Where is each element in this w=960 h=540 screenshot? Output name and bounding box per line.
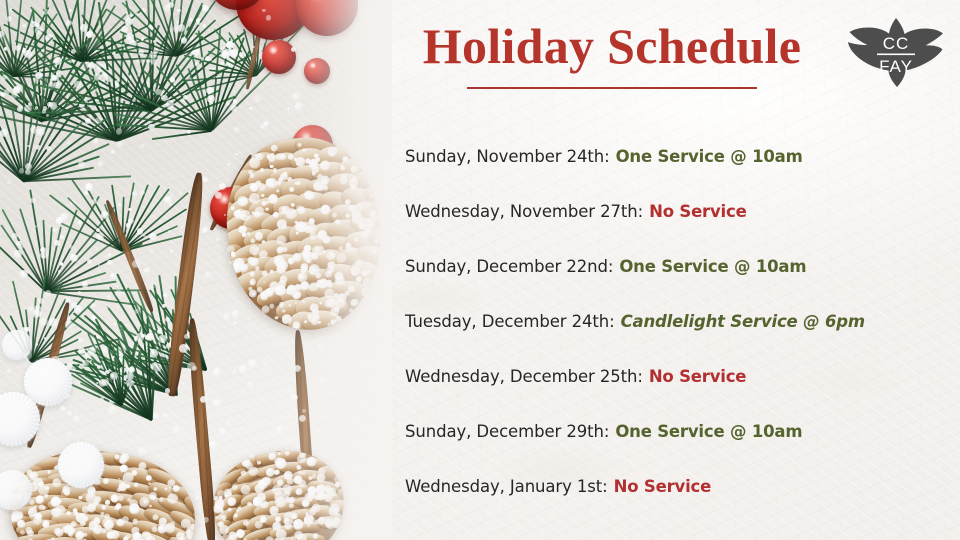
snow-fleck (140, 190, 145, 195)
snow-crumb (292, 92, 300, 100)
snow-crumb (249, 107, 252, 110)
snow-crumb (213, 399, 221, 407)
snow-crumb (227, 163, 230, 166)
pine-needle-cluster (115, 140, 116, 141)
pinecone-snow (57, 499, 62, 504)
snow-fleck (98, 161, 103, 166)
pine-needle-cluster-lower (150, 420, 151, 421)
snow-crumb (248, 359, 257, 368)
logo-line-bottom: FAY (879, 57, 913, 76)
snow-fleck (94, 139, 99, 144)
snow-fleck (207, 95, 215, 103)
snow-crumb (100, 397, 104, 401)
snow-crumb (85, 62, 87, 64)
snow-crumb (309, 508, 317, 516)
snow-crumb (150, 283, 156, 289)
pinecone-snow (304, 320, 307, 323)
pine-needle-cluster (255, 75, 256, 76)
snow-crumb (301, 471, 305, 475)
holiday-schedule-slide: CC FAY Holiday Schedule Sunday, November… (0, 0, 960, 540)
snow-crumb (87, 467, 90, 470)
pinecone-snow (249, 245, 260, 256)
snow-crumb (204, 271, 211, 278)
schedule-row: Tuesday, December 24th:Candlelight Servi… (405, 294, 945, 349)
snow-fleck (110, 273, 116, 279)
pinecone-snow (145, 474, 152, 481)
snow-crumb (20, 270, 28, 278)
snow-fleck (239, 52, 245, 58)
snow-crumb (140, 144, 144, 148)
snow-crumb (329, 391, 337, 399)
snow-fleck (14, 250, 22, 258)
snow-crumb (134, 309, 139, 314)
pinecone-snow (261, 193, 265, 197)
snow-fleck (158, 335, 166, 343)
pinecone-snow (261, 270, 268, 277)
snow-crumb (19, 244, 24, 249)
snow-crumb (291, 536, 297, 540)
snow-crumb (132, 260, 140, 268)
pinecone-snow (250, 271, 255, 276)
pinecone-snow (114, 454, 119, 459)
snow-crumb (68, 531, 73, 536)
pinecone-snow (34, 512, 42, 520)
pinecone-snow (350, 299, 358, 307)
snow-fleck (0, 129, 8, 137)
snow-crumb (52, 227, 58, 233)
snow-crumb (187, 362, 196, 371)
schedule-detail: One Service @ 10am (616, 147, 803, 166)
snow-crumb (125, 324, 127, 326)
snow-fleck (195, 62, 200, 67)
schedule-date: Wednesday, November 27th: (405, 202, 643, 221)
schedule-date: Sunday, December 22nd: (405, 257, 613, 276)
snow-crumb (65, 320, 73, 328)
pinecone-snow (361, 286, 373, 298)
snow-crumb (67, 141, 71, 145)
snow-fleck (78, 291, 81, 294)
pinecone-snow (237, 195, 248, 206)
snow-crumb (171, 521, 175, 525)
snow-crumb (181, 37, 187, 43)
snow-crumb (263, 121, 269, 127)
pinecone-snow (317, 468, 326, 477)
snow-crumb (25, 169, 31, 175)
snow-fleck (106, 77, 111, 82)
pinecone-snow (44, 493, 49, 498)
snow-crumb (19, 168, 25, 174)
pinecone-snow (144, 500, 148, 504)
pinecone-snow (349, 308, 353, 312)
snow-fleck (17, 106, 23, 112)
pinecone-snow (219, 508, 223, 512)
red-berry-top-b (304, 58, 330, 84)
snow-fleck (99, 379, 107, 387)
pinecone-snow (255, 266, 260, 271)
snow-crumb (247, 427, 251, 431)
snow-crumb (280, 154, 286, 160)
schedule-date: Sunday, November 24th: (405, 147, 610, 166)
snow-crumb (116, 128, 123, 135)
snow-crumb (73, 415, 80, 422)
pinecone-snow (227, 507, 232, 512)
schedule-date: Wednesday, January 1st: (405, 477, 608, 496)
pinecone-snow (308, 218, 315, 225)
snow-crumb (219, 183, 226, 190)
snow-crumb (70, 363, 73, 366)
snow-crumb (184, 334, 190, 340)
snow-crumb (12, 233, 18, 239)
snow-crumb (206, 87, 213, 94)
pinecone-snow (302, 148, 306, 152)
snow-crumb (105, 255, 107, 257)
pinecone-snow (275, 316, 279, 320)
snow-crumb (248, 317, 250, 319)
pinecone-snow (126, 535, 131, 540)
schedule-date: Sunday, December 29th: (405, 422, 609, 441)
pinecone-snow (340, 164, 344, 168)
snow-fleck (136, 333, 144, 341)
schedule-detail: No Service (649, 202, 746, 221)
pine-needle-cluster (80, 60, 81, 61)
pinecone-snow (278, 177, 283, 182)
snow-crumb (157, 329, 162, 334)
snow-crumb (203, 177, 209, 183)
pinecone-snow (297, 181, 301, 185)
schedule-row: Wednesday, January 1st:No Service (405, 459, 945, 514)
schedule-detail: Candlelight Service @ 6pm (621, 312, 865, 331)
snow-fleck (230, 49, 238, 57)
snow-crumb (58, 270, 60, 272)
snow-fleck (169, 203, 172, 206)
snow-crumb (35, 106, 38, 109)
snow-crumb (7, 181, 10, 184)
snow-crumb (108, 406, 117, 415)
snow-crumb (54, 57, 62, 65)
snow-crumb (247, 381, 254, 388)
pinecone-snow (327, 322, 330, 325)
snow-fleck (149, 233, 157, 241)
snow-crumb (299, 415, 306, 422)
snow-crumb (277, 460, 285, 468)
snow-crumb (309, 266, 317, 274)
snow-crumb (271, 196, 276, 201)
schedule-row: Sunday, December 22nd:One Service @ 10am (405, 239, 945, 294)
snow-crumb (144, 268, 150, 274)
pinecone-snow (250, 238, 256, 244)
snow-crumb (317, 485, 325, 493)
snow-crumb (276, 426, 283, 433)
snow-crumb (60, 406, 66, 412)
snow-crumb (82, 281, 88, 287)
pine-needle-cluster-lower (205, 370, 206, 371)
snow-fleck (202, 5, 209, 12)
snow-fleck (37, 128, 44, 135)
pinecone-snow (283, 247, 288, 252)
snow-crumb (102, 346, 109, 353)
snow-crumb (306, 516, 314, 524)
snow-crumb (163, 413, 168, 418)
snow-crumb (319, 377, 326, 384)
snow-fleck (96, 233, 104, 241)
snow-crumb (252, 46, 254, 48)
snow-crumb (209, 441, 217, 449)
pinecone-snow (354, 237, 359, 242)
snow-crumb (67, 432, 72, 437)
snow-fleck (39, 318, 47, 326)
snow-crumb (30, 21, 37, 28)
snow-crumb (220, 47, 227, 54)
pinecone-snow (282, 224, 287, 229)
snow-crumb (27, 145, 29, 147)
snow-fleck (128, 208, 132, 212)
snow-crumb (84, 191, 88, 195)
snow-crumb (66, 394, 71, 399)
snow-crumb (317, 344, 324, 351)
snow-crumb (37, 378, 45, 386)
snow-crumb (227, 420, 230, 423)
snow-crumb (313, 314, 320, 321)
snow-crumb (170, 250, 173, 253)
snow-crumb (327, 298, 336, 307)
red-berry-top (262, 40, 296, 74)
snow-fleck (54, 82, 59, 87)
pinecone-snow (126, 484, 131, 489)
snow-crumb (166, 343, 172, 349)
schedule-date: Tuesday, December 24th: (405, 312, 615, 331)
snow-crumb (312, 474, 316, 478)
snow-crumb (67, 411, 72, 416)
schedule-row: Wednesday, December 25th:No Service (405, 349, 945, 404)
snow-fleck (119, 356, 123, 360)
snow-fleck (50, 102, 57, 109)
snow-fleck (41, 49, 44, 52)
snow-crumb (43, 375, 45, 377)
snow-crumb (176, 21, 179, 24)
pinecone-snow (296, 490, 300, 494)
schedule-detail: One Service @ 10am (619, 257, 806, 276)
snow-fleck (132, 99, 135, 102)
pine-needle-cluster (175, 55, 176, 56)
snow-crumb (25, 373, 30, 378)
snow-crumb (244, 336, 247, 339)
pinecone-snow (317, 174, 323, 180)
snow-crumb (222, 534, 229, 540)
snow-fleck (150, 349, 158, 357)
snow-crumb (219, 428, 226, 435)
snow-crumb (235, 153, 238, 156)
schedule-detail: One Service @ 10am (615, 422, 802, 441)
snow-fleck (203, 24, 206, 27)
snow-crumb (278, 280, 286, 288)
snow-crumb (43, 9, 49, 15)
pinecone-snow (308, 158, 319, 169)
schedule-date: Wednesday, December 25th: (405, 367, 643, 386)
snow-fleck (71, 49, 76, 54)
snow-fleck (24, 50, 32, 58)
snow-crumb (254, 95, 262, 103)
snow-crumb (234, 127, 239, 132)
snow-crumb (95, 62, 101, 68)
pine-needle-cluster (12, 75, 13, 76)
pine-needle-cluster (210, 130, 211, 131)
snow-crumb (63, 464, 68, 469)
pinecone-snow (269, 303, 275, 309)
page-title: Holiday Schedule (392, 20, 832, 73)
snow-crumb (218, 515, 225, 522)
snow-crumb (107, 295, 111, 299)
snow-fleck (4, 47, 7, 50)
snow-crumb (330, 268, 334, 272)
snow-fleck (105, 370, 109, 374)
pine-needle-cluster-lower (120, 405, 121, 406)
pinecone-snow (262, 240, 266, 244)
snow-crumb (291, 394, 298, 401)
snow-crumb (326, 518, 330, 522)
logo-line-top: CC (883, 34, 910, 53)
schedule-row: Sunday, November 24th:One Service @ 10am (405, 129, 945, 184)
pinecone-snow (149, 504, 152, 507)
snow-crumb (137, 74, 140, 77)
snow-fleck (128, 367, 134, 373)
snow-crumb (316, 428, 321, 433)
pine-needle-cluster (120, 250, 121, 251)
snow-crumb (118, 203, 121, 206)
title-block: Holiday Schedule (392, 20, 832, 89)
snow-crumb (266, 201, 268, 203)
snow-crumb (108, 253, 112, 257)
pinecone-snow (347, 285, 354, 292)
snow-crumb (46, 114, 49, 117)
snow-crumb (213, 368, 221, 376)
pinecone-snow (104, 513, 110, 519)
snow-crumb (209, 58, 211, 60)
schedule-row: Sunday, December 29th:One Service @ 10am (405, 404, 945, 459)
pine-needle-cluster (30, 360, 31, 361)
snow-crumb (295, 182, 298, 185)
snow-crumb (36, 343, 38, 345)
logo-divider-rule (877, 54, 915, 56)
snow-fleck (110, 372, 118, 380)
snow-fleck (94, 89, 97, 92)
snow-fleck (87, 259, 92, 264)
snow-crumb (179, 344, 188, 353)
pine-needle-cluster (22, 180, 23, 181)
snow-crumb (78, 161, 85, 168)
snow-crumb (249, 453, 255, 459)
snow-crumb (255, 497, 259, 501)
snow-crumb (40, 28, 43, 31)
snow-crumb (275, 262, 280, 267)
snow-crumb (35, 78, 39, 82)
pinecone-snow (356, 276, 362, 282)
pinecone-snow (233, 261, 245, 273)
pinecone-snow (247, 256, 254, 263)
snow-crumb (172, 426, 181, 435)
snow-crumb (295, 302, 297, 304)
pinecone-snow (78, 495, 82, 499)
snow-fleck (166, 100, 174, 108)
pinecone-snow (368, 270, 372, 274)
pinecone-snow (332, 213, 337, 218)
snow-crumb (10, 419, 16, 425)
snow-crumb (45, 290, 52, 297)
pinecone-snow (27, 530, 34, 537)
snow-crumb (232, 310, 239, 317)
snow-crumb (153, 363, 162, 372)
schedule-row: Wednesday, November 27th:No Service (405, 184, 945, 239)
snow-fleck (78, 347, 85, 354)
snow-crumb (307, 313, 313, 319)
snow-crumb (98, 264, 101, 267)
snow-crumb (173, 25, 181, 33)
snow-fleck (132, 191, 137, 196)
snow-crumb (69, 245, 73, 249)
snow-fleck (56, 217, 63, 224)
ccfay-dove-logo: CC FAY (848, 14, 944, 88)
snow-crumb (24, 351, 32, 359)
holiday-greenery-photo (0, 0, 392, 540)
snow-crumb (17, 520, 24, 527)
snow-crumb (262, 9, 265, 12)
snow-crumb (223, 313, 230, 320)
snow-fleck (107, 260, 112, 265)
snow-crumb (215, 192, 222, 199)
snow-crumb (150, 249, 154, 253)
snow-crumb (302, 409, 306, 413)
snow-fleck (233, 99, 237, 103)
snow-crumb (96, 247, 99, 250)
snow-crumb (202, 517, 209, 524)
pinecone-snow (351, 213, 363, 225)
title-underline-rule (467, 87, 757, 89)
snow-crumb (78, 220, 83, 225)
snow-fleck (155, 89, 162, 96)
schedule-detail: No Service (614, 477, 711, 496)
snow-crumb (231, 105, 238, 112)
snow-crumb (65, 450, 69, 454)
snow-crumb (111, 150, 115, 154)
schedule-list: Sunday, November 24th:One Service @ 10am… (405, 129, 945, 514)
snow-fleck (165, 317, 170, 322)
snow-crumb (240, 226, 242, 228)
snow-crumb (47, 432, 50, 435)
snow-fleck (66, 20, 72, 26)
schedule-detail: No Service (649, 367, 746, 386)
pinecone-snow (356, 203, 363, 210)
snow-fleck (177, 9, 180, 12)
berry-highlight (269, 46, 278, 55)
snow-fleck (148, 124, 154, 130)
pinecone-snow (303, 253, 313, 263)
pompom-d (0, 470, 32, 510)
snow-fleck (74, 81, 82, 89)
pinecone-snow (271, 153, 275, 157)
pine-needle-cluster (40, 120, 41, 121)
pinecone-snow (300, 281, 309, 290)
snow-fleck (2, 75, 7, 80)
snow-crumb (165, 388, 170, 393)
snow-crumb (233, 322, 236, 325)
snow-fleck (70, 254, 78, 262)
snow-crumb (42, 506, 46, 510)
snow-crumb (91, 303, 96, 308)
snow-fleck (122, 44, 125, 47)
snow-crumb (51, 356, 59, 364)
snow-crumb (153, 48, 159, 54)
snow-crumb (202, 227, 208, 233)
snow-crumb (287, 107, 290, 110)
